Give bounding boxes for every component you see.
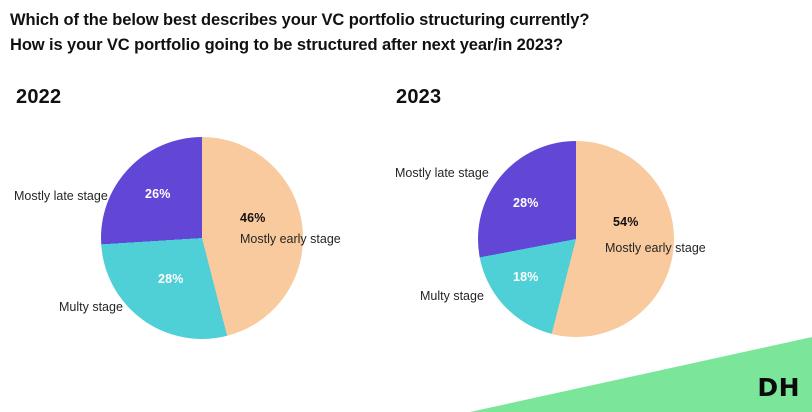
page-title: Which of the below best describes your V… bbox=[10, 8, 790, 58]
chart-2022-year-label: 2022 bbox=[16, 86, 61, 109]
pie-2022-slice-value-early-stage: 46% bbox=[240, 211, 266, 225]
pie-2023-slice-label-early-stage: Mostly early stage bbox=[605, 241, 706, 255]
pie-2023-slice-label-multi-stage: Multy stage bbox=[420, 289, 484, 303]
pie-2023-slice-value-late-stage: 28% bbox=[513, 196, 539, 210]
pie-2023-slice-value-multi-stage: 18% bbox=[513, 270, 539, 284]
chart-2023-year-label: 2023 bbox=[396, 86, 441, 109]
pie-chart-2023 bbox=[478, 141, 674, 337]
brand-logo-dh: DH bbox=[757, 373, 800, 402]
pie-2022-slice-value-late-stage: 26% bbox=[145, 187, 171, 201]
pie-2022-slice-value-multi-stage: 28% bbox=[158, 272, 184, 286]
pie-2022-slice-label-late-stage: Mostly late stage bbox=[14, 189, 108, 203]
pie-2022-slice-label-multi-stage: Multy stage bbox=[59, 300, 123, 314]
question-line-1: Which of the below best describes your V… bbox=[10, 8, 790, 33]
pie-2023-slice-label-late-stage: Mostly late stage bbox=[395, 166, 489, 180]
pie-2022-slice-label-early-stage: Mostly early stage bbox=[240, 232, 341, 246]
pie-2023-slice-value-early-stage: 54% bbox=[613, 215, 639, 229]
question-line-2: How is your VC portfolio going to be str… bbox=[10, 33, 790, 58]
slide-canvas: Which of the below best describes your V… bbox=[0, 0, 812, 412]
